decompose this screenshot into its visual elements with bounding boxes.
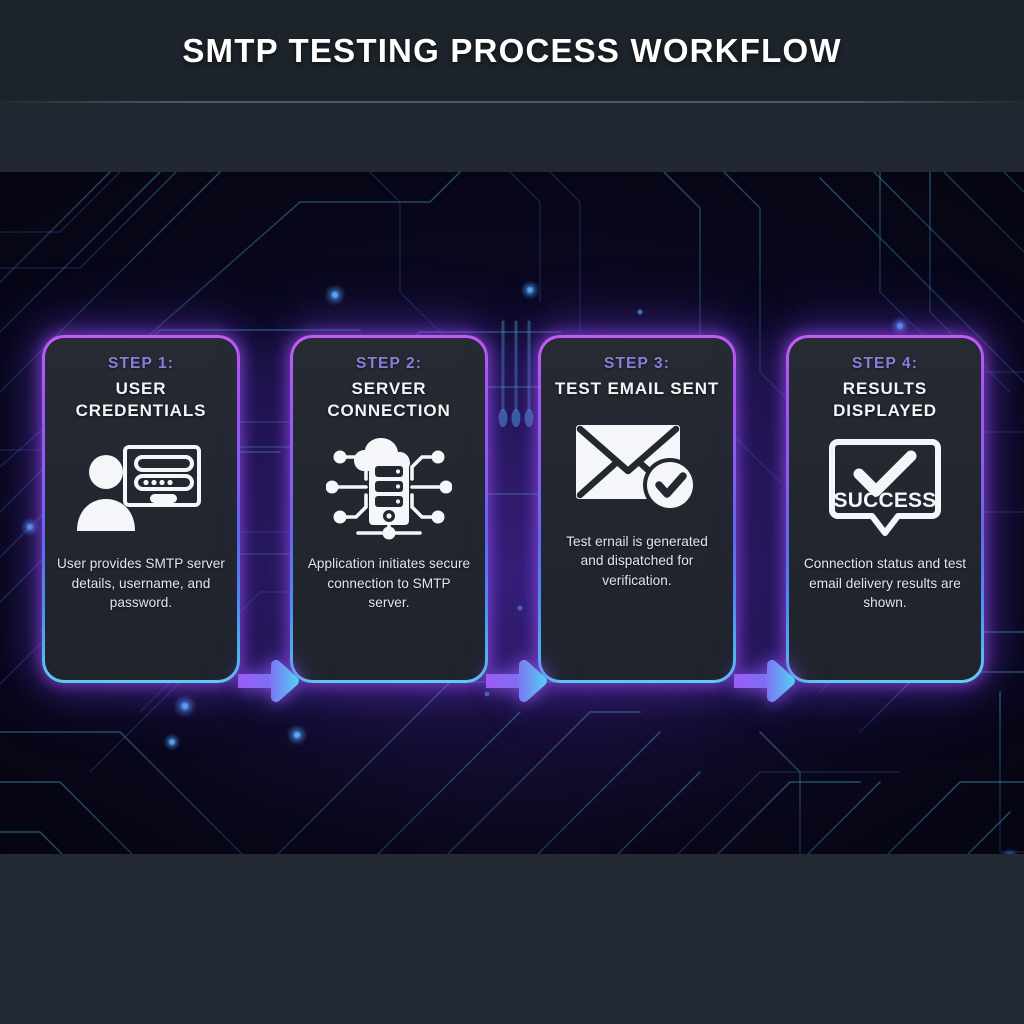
step-title: USER CREDENTIALS [57, 378, 225, 423]
step-card-test-email-sent[interactable]: STEP 3: TEST EMAIL SENT [538, 335, 736, 683]
hero-panel: STEP 1: USER CREDENTIALS [0, 172, 1024, 854]
step-label: STEP 3: [604, 355, 670, 374]
step-title: SERVER CONNECTION [305, 378, 473, 423]
step-label: STEP 1: [108, 355, 174, 374]
step-card-results-displayed[interactable]: STEP 4: RESULTS DISPLAYED SUCCESS Connec… [786, 335, 984, 683]
step-card-user-credentials[interactable]: STEP 1: USER CREDENTIALS [42, 335, 240, 683]
step-description: User provides SMTP server details, usern… [57, 554, 225, 612]
header-subband [0, 103, 1024, 172]
step-title: TEST EMAIL SENT [555, 378, 719, 400]
step-label: STEP 4: [852, 355, 918, 374]
cloud-server-network-icon [305, 426, 473, 548]
arrow-step2-to-step3 [486, 659, 548, 703]
step-description: Application initiates secure connection … [305, 554, 473, 612]
success-badge-icon: SUCCESS [801, 426, 969, 548]
envelope-check-icon [553, 404, 721, 526]
step-title: RESULTS DISPLAYED [801, 378, 969, 423]
page-title: SMTP TESTING PROCESS WORKFLOW [182, 32, 841, 70]
user-credentials-icon [57, 426, 225, 548]
arrow-step1-to-step2 [238, 659, 300, 703]
step-card-server-connection[interactable]: STEP 2: SERVER CONNECTION [290, 335, 488, 683]
arrow-step3-to-step4 [734, 659, 796, 703]
success-badge-text: SUCCESS [834, 489, 937, 512]
step-description: Connection status and test email deliver… [801, 554, 969, 612]
step-label: STEP 2: [356, 355, 422, 374]
infographic-page: SMTP TESTING PROCESS WORKFLOW [0, 0, 1024, 1024]
header-bar: SMTP TESTING PROCESS WORKFLOW [0, 0, 1024, 101]
step-description: Test ernail is generated and dispatched … [553, 532, 721, 590]
workflow-steps-row: STEP 1: USER CREDENTIALS [0, 335, 1024, 683]
footer-band [0, 854, 1024, 1024]
